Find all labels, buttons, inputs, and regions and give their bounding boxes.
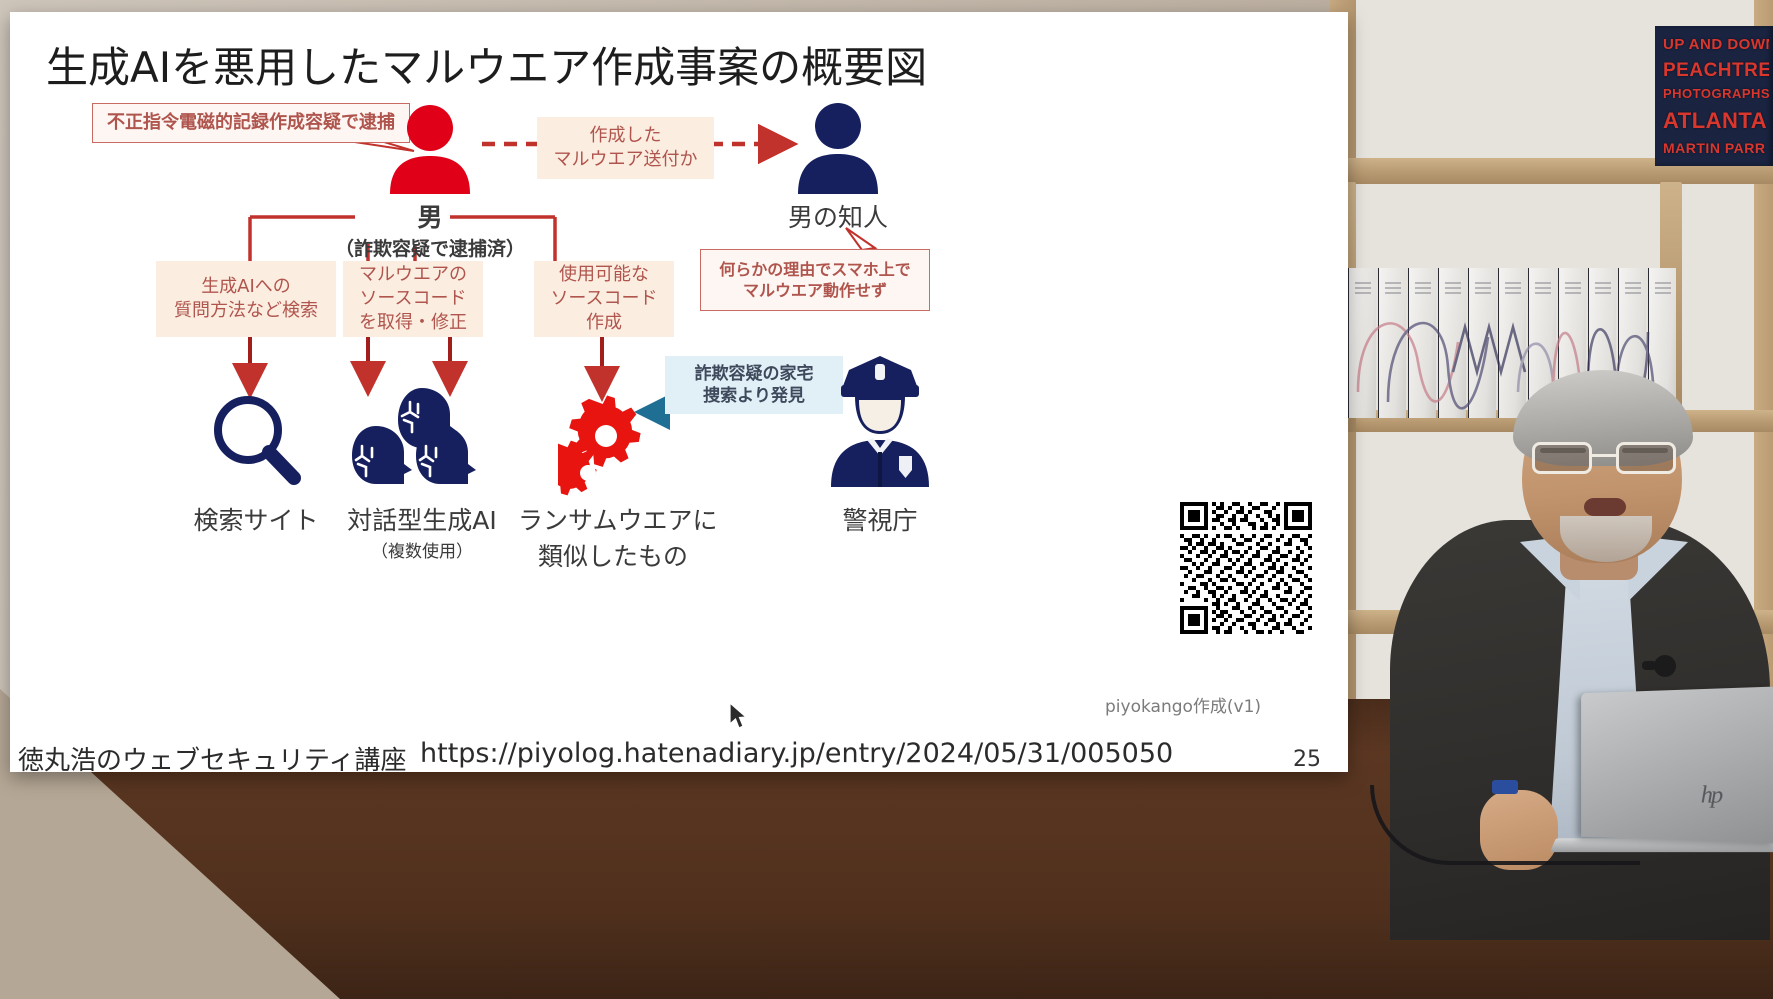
slide-credit: piyokango作成(v1) — [1105, 692, 1261, 717]
callout-not-working-line2: マルウエア動作せず — [743, 280, 887, 301]
callout-sent-malware: 作成した マルウエア送付か — [537, 117, 714, 179]
footer-course-name: 徳丸浩のウェブセキュリティ講座 — [18, 740, 406, 772]
police-found-line1: 詐欺容疑の家宅 — [695, 363, 814, 385]
callout-arrest: 不正指令電磁的記録作成容疑で逮捕 — [92, 103, 410, 143]
figure-label-man: 男 （詐欺容疑で逮捕済） — [330, 198, 530, 261]
usable-source-line3: 作成 — [586, 311, 622, 335]
chat-ai-sublabel: （複数使用） — [332, 537, 512, 562]
qr-code-icon — [1180, 502, 1312, 634]
ai-head-icon — [350, 384, 476, 496]
person-icon-red — [382, 104, 478, 194]
source-get-line1: マルウエアの — [359, 263, 467, 287]
callout-malware-not-working: 何らかの理由でスマホ上で マルウエア動作せず — [700, 249, 930, 311]
hp-logo: hp — [1701, 782, 1748, 809]
book-title-line-1: UP AND DOWN — [1663, 36, 1769, 53]
presenter-mouth — [1584, 498, 1626, 516]
callout-create-usable-source: 使用可能な ソースコード 作成 — [534, 261, 674, 337]
man-label: 男 — [330, 198, 530, 234]
ransomware-line2: 類似したもの — [518, 537, 708, 573]
video-frame: UP AND DOWN PEACHTREE PHOTOGRAPHS ATLANT… — [0, 0, 1773, 999]
footer-source-url[interactable]: https://piyolog.hatenadiary.jp/entry/202… — [420, 738, 1173, 769]
book-title-line-3: PHOTOGRAPHS — [1663, 86, 1769, 101]
callout-police-found: 詐欺容疑の家宅 捜索より発見 — [665, 356, 843, 414]
usable-source-line1: 使用可能な — [559, 263, 649, 287]
cable-plug — [1492, 780, 1518, 794]
figure-label-police: 警視庁 — [830, 501, 930, 537]
search-site-label: 検索サイト — [176, 501, 336, 537]
figure-label-acquaintance: 男の知人 — [758, 198, 918, 234]
source-get-line2: ソースコード — [359, 287, 466, 311]
police-label: 警視庁 — [830, 501, 930, 537]
slide-page-number: 25 — [1293, 747, 1321, 772]
glasses-icon — [1530, 442, 1678, 476]
chat-ai-label: 対話型生成AI — [332, 501, 512, 537]
slide-title: 生成AIを悪用したマルウエア作成事案の概要図 — [46, 34, 927, 95]
book-title-line-4: ATLANTA — [1663, 108, 1769, 134]
magnifier-icon — [206, 390, 306, 490]
photo-book: UP AND DOWN PEACHTREE PHOTOGRAPHS ATLANT… — [1655, 26, 1773, 166]
callout-search-generative-ai: 生成AIへの 質問方法など検索 — [156, 261, 336, 337]
police-officer-icon — [825, 352, 935, 487]
book-title-line-2: PEACHTREE — [1663, 60, 1769, 82]
callout-not-working-line1: 何らかの理由でスマホ上で — [719, 259, 911, 280]
callout-sent-malware-line2: マルウエア送付か — [554, 148, 698, 172]
laptop-lid: hp — [1581, 686, 1773, 843]
laptop: hp — [1575, 690, 1773, 870]
book-title-line-5: MARTIN PARR — [1663, 140, 1769, 156]
person-icon-navy — [790, 102, 886, 194]
search-ai-line2: 質問方法など検索 — [174, 299, 318, 323]
figure-label-ransomware: ランサムウエアに 類似したもの — [518, 501, 708, 573]
callout-sent-malware-line1: 作成した — [590, 124, 662, 148]
lapel-microphone — [1654, 655, 1676, 677]
mouse-cursor — [728, 702, 750, 732]
gears-icon — [558, 390, 662, 502]
ransomware-line1: ランサムウエアに — [518, 501, 708, 537]
figure-label-chat-ai: 対話型生成AI （複数使用） — [332, 501, 512, 562]
callout-obtain-modify-source: マルウエアの ソースコード を取得・修正 — [343, 261, 483, 337]
source-get-line3: を取得・修正 — [359, 311, 467, 335]
search-ai-line1: 生成AIへの — [201, 275, 291, 299]
figure-label-search-site: 検索サイト — [176, 501, 336, 537]
callout-arrest-text: 不正指令電磁的記録作成容疑で逮捕 — [107, 111, 395, 135]
man-sublabel: （詐欺容疑で逮捕済） — [330, 234, 530, 261]
usable-source-line2: ソースコード — [550, 287, 657, 311]
police-found-line2: 捜索より発見 — [703, 385, 805, 407]
acquaintance-label: 男の知人 — [758, 198, 918, 234]
presentation-slide: 生成AIを悪用したマルウエア作成事案の概要図 — [10, 12, 1348, 772]
